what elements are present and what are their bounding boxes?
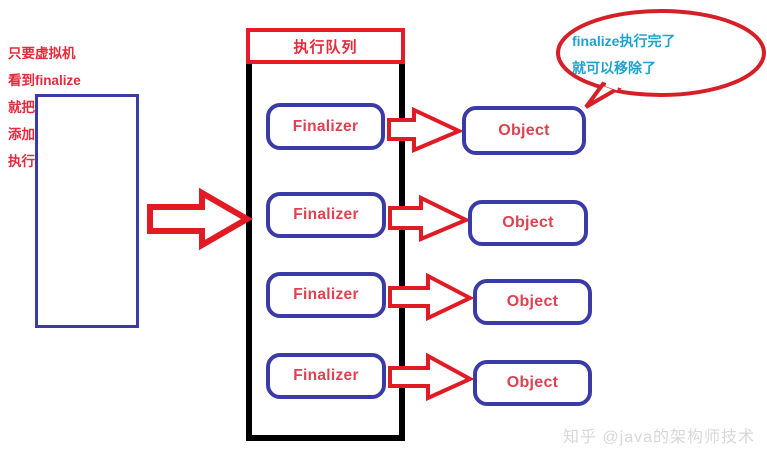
object-label-3: Object — [507, 293, 559, 311]
object-node-1: Object — [462, 106, 586, 155]
object-node-2: Object — [468, 200, 588, 246]
object-label-4: Object — [507, 374, 559, 392]
execution-queue-title-box: 执行队列 — [246, 28, 405, 64]
finalizer-label-1: Finalizer — [293, 118, 359, 136]
enqueue-block-arrow — [150, 193, 247, 245]
diagram-canvas: 只要虚拟机 看到finalize 就把当前对象 添加到 执行队列 执行队列 Fi… — [0, 0, 767, 455]
object-label-2: Object — [502, 214, 554, 232]
finalizer-label-3: Finalizer — [293, 286, 359, 304]
object-node-4: Object — [473, 360, 592, 406]
explanation-note-line-1: 只要虚拟机 — [8, 40, 138, 67]
callout-line-2: 就可以移除了 — [572, 55, 752, 82]
watermark-label: 知乎 @java的架构师技术 — [563, 423, 755, 447]
callout-bubble-tail — [586, 84, 617, 107]
finalizer-node-4: Finalizer — [266, 353, 386, 399]
explanation-note-line-2: 看到finalize — [8, 67, 138, 94]
finalizer-label-4: Finalizer — [293, 367, 359, 385]
callout-bubble-text: finalize执行完了 就可以移除了 — [572, 28, 752, 82]
callout-line-1: finalize执行完了 — [572, 28, 752, 55]
object-node-3: Object — [473, 279, 592, 325]
finalizer-node-2: Finalizer — [266, 192, 386, 238]
finalizer-node-1: Finalizer — [266, 103, 385, 150]
finalizer-label-2: Finalizer — [293, 206, 359, 224]
finalizer-node-3: Finalizer — [266, 272, 386, 318]
execution-queue-title-label: 执行队列 — [293, 36, 357, 57]
callout-bubble-tail-mask — [606, 84, 618, 88]
explanation-note-box — [35, 94, 139, 328]
object-label-1: Object — [498, 122, 550, 140]
